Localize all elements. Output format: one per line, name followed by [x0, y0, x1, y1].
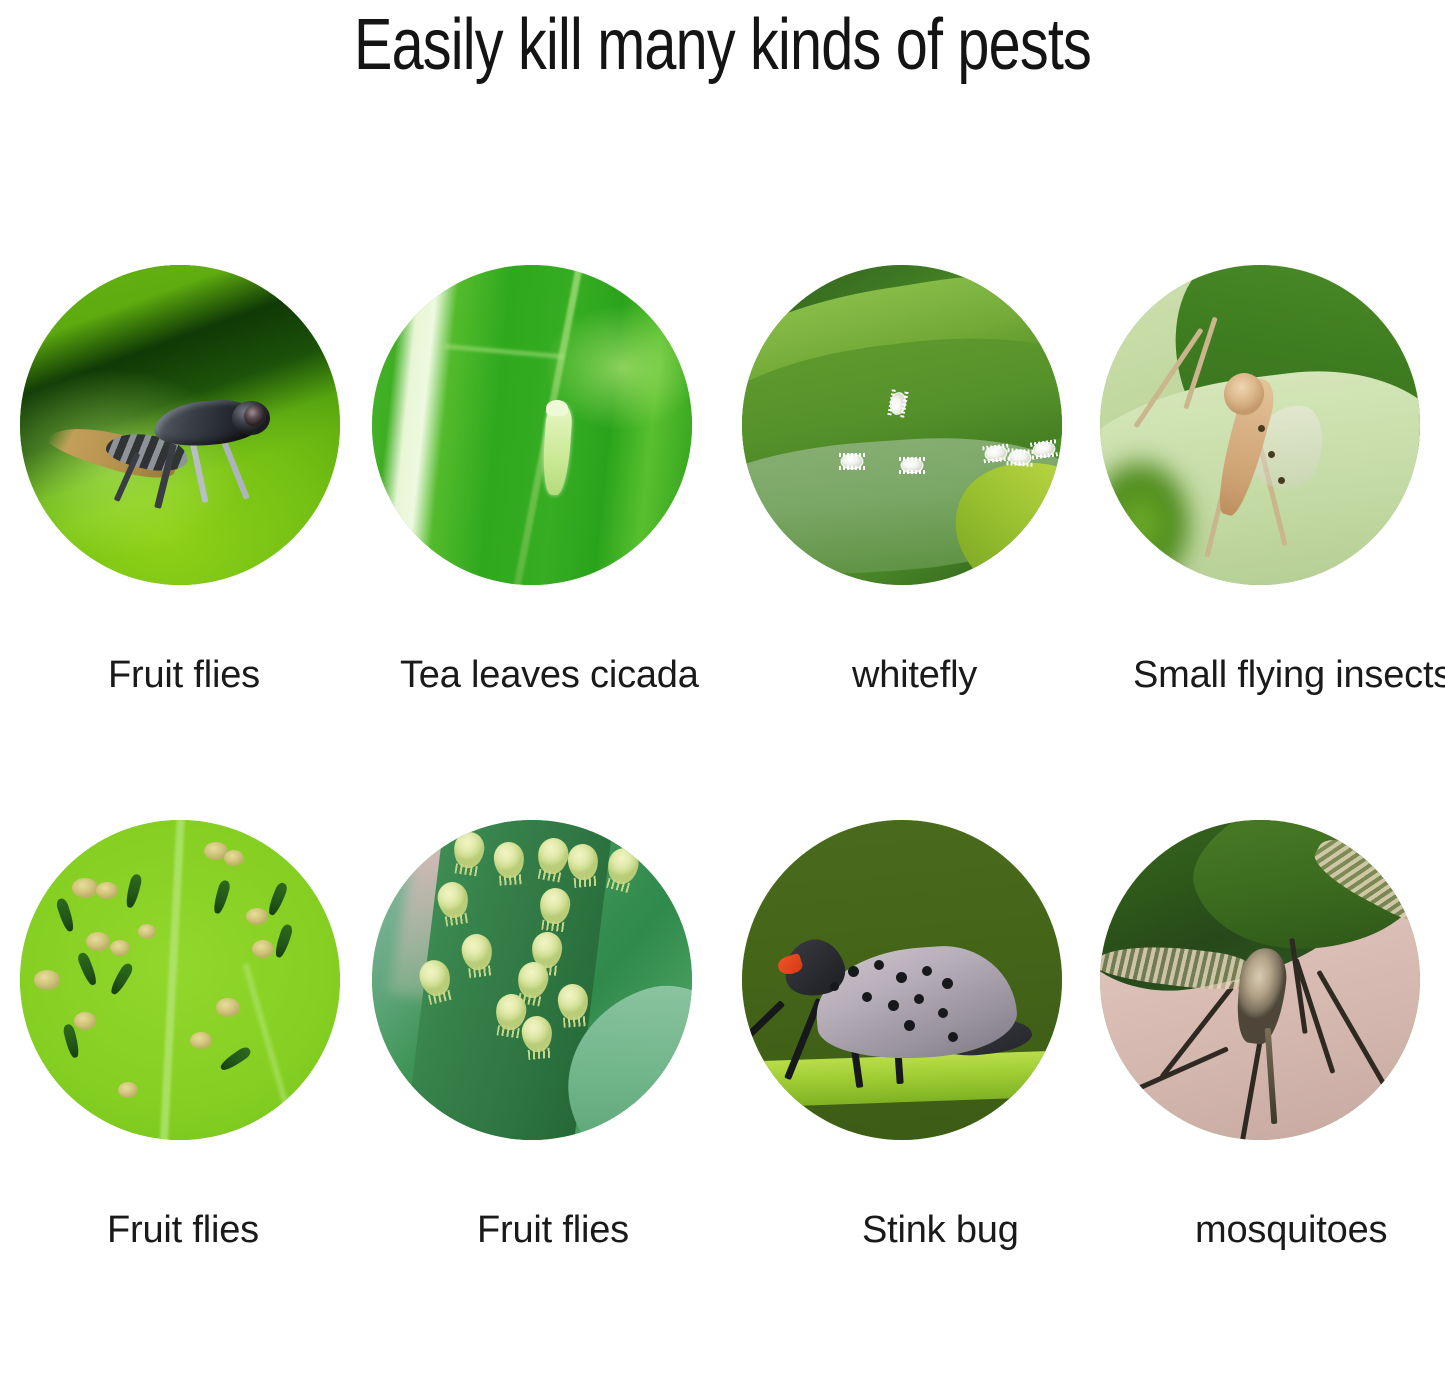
- aphids-on-stem-photo: [372, 820, 692, 1140]
- pest-cell-small-flying-insects[interactable]: Small flying insects: [1100, 265, 1422, 820]
- cicada-nymph-on-leaf-photo: [372, 265, 692, 585]
- larvae-on-green-leaf-photo: [20, 820, 340, 1140]
- page-title: Easily kill many kinds of pests: [145, 2, 1301, 88]
- pest-cell-fruit-flies-3[interactable]: Fruit flies: [372, 820, 694, 1375]
- pest-label-fruit-flies-3: Fruit flies: [372, 1207, 799, 1253]
- pest-row: Fruit flies Tea leaves cicada: [0, 265, 1445, 820]
- pest-cell-stink-bug[interactable]: Stink bug: [742, 820, 1064, 1375]
- pest-cell-fruit-flies-2[interactable]: Fruit flies: [20, 820, 342, 1375]
- pest-cell-fruit-flies-1[interactable]: Fruit flies: [20, 265, 342, 820]
- pest-label-tea-leaves-cicada: Tea leaves cicada: [372, 652, 722, 698]
- pest-label-small-flying-insects: Small flying insects: [1100, 652, 1445, 698]
- spotted-lanternfly-photo: [742, 820, 1062, 1140]
- pest-cell-tea-leaves-cicada[interactable]: Tea leaves cicada: [372, 265, 694, 820]
- pest-grid: Fruit flies Tea leaves cicada: [0, 265, 1445, 1375]
- whiteflies-on-leaf-photo: [742, 265, 1062, 585]
- mosquito-on-skin-photo: [1100, 820, 1420, 1140]
- pest-cell-whitefly[interactable]: whitefly: [742, 265, 1064, 820]
- pest-label-fruit-flies-2: Fruit flies: [20, 1207, 429, 1253]
- pest-label-fruit-flies-1: Fruit flies: [20, 652, 430, 698]
- midge-on-leaf-photo: [1100, 265, 1420, 585]
- pest-row: Fruit flies: [0, 820, 1445, 1375]
- pest-label-mosquitoes: mosquitoes: [1100, 1207, 1445, 1253]
- fruit-fly-on-leaf-photo: [20, 265, 340, 585]
- pest-cell-mosquitoes[interactable]: mosquitoes: [1100, 820, 1422, 1375]
